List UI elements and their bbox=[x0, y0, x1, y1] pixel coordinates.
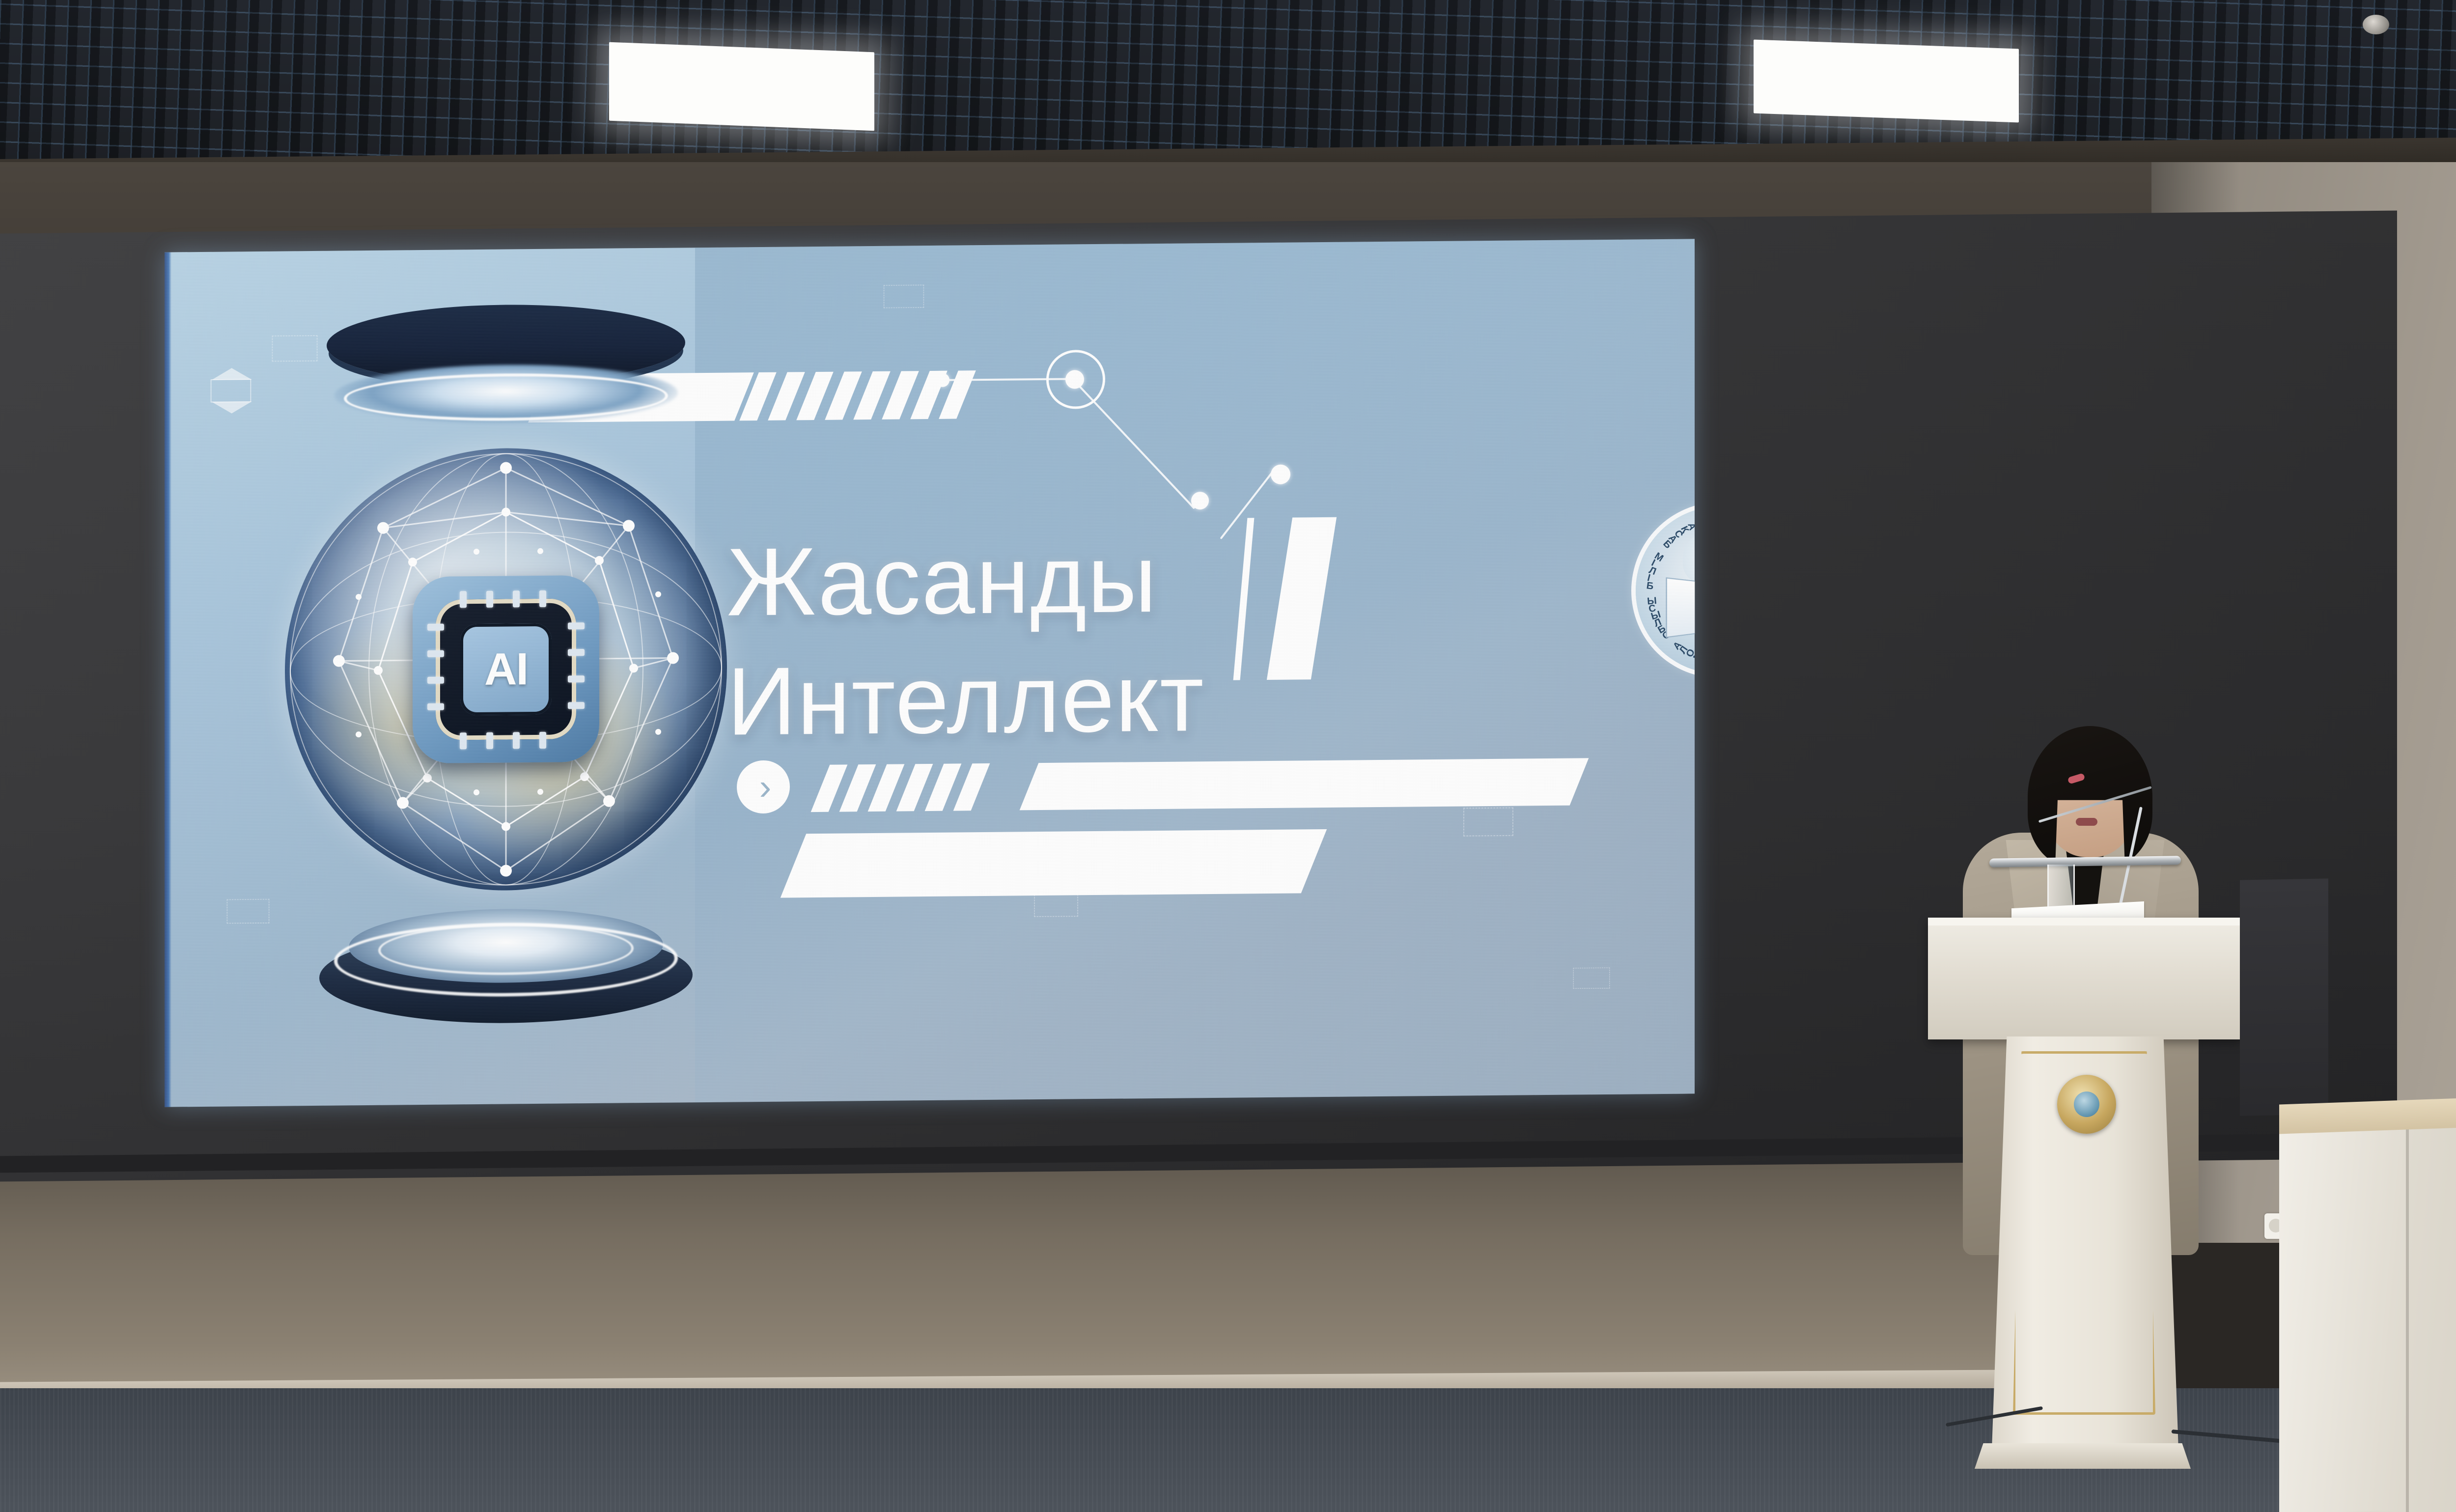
network-node-dot bbox=[1191, 492, 1209, 509]
stripe-bar-bottom-solid bbox=[1020, 758, 1589, 810]
open-book-icon bbox=[1666, 580, 1695, 635]
chip-pin bbox=[427, 677, 444, 684]
hexagon-decor-dashed bbox=[1573, 967, 1610, 989]
chip-pin bbox=[427, 650, 444, 657]
ceiling-light-panel bbox=[1754, 40, 2019, 123]
ai-globe-graphic: AI bbox=[251, 289, 761, 1074]
chip-pin bbox=[427, 624, 444, 631]
chip-pin bbox=[539, 732, 546, 749]
chip-pin bbox=[460, 591, 467, 608]
wireframe-globe-icon: AI bbox=[285, 447, 727, 893]
chip-pin bbox=[568, 649, 585, 656]
hexagon-decor-dashed bbox=[1463, 807, 1513, 836]
chip-pin bbox=[486, 591, 493, 608]
slide-title-line-2: Интеллект bbox=[727, 634, 1660, 761]
chip-pin bbox=[486, 732, 493, 749]
stripe-bar-bottom bbox=[820, 763, 980, 812]
hexagon-decor bbox=[211, 379, 251, 402]
desk-panel-divider bbox=[2406, 1125, 2409, 1512]
chip-pin bbox=[568, 702, 585, 709]
stripe-bar-top bbox=[749, 370, 966, 420]
podium-top-edge bbox=[1928, 918, 2242, 925]
presentation-slide: Жасанды Интеллект АҚМОЛА ОБЛЫСЫ БІЛІМ БА… bbox=[165, 239, 1695, 1107]
slide-title: Жасанды Интеллект bbox=[727, 514, 1660, 761]
state-emblem-icon bbox=[2057, 1075, 2116, 1134]
conference-room-photo: Жасанды Интеллект АҚМОЛА ОБЛЫСЫ БІЛІМ БА… bbox=[0, 0, 2456, 1512]
ai-chip-icon: AI bbox=[413, 575, 599, 763]
podium-lectern-top bbox=[1928, 918, 2242, 1039]
speaker-mouth bbox=[2076, 818, 2097, 826]
foreground-desk-side bbox=[2279, 1114, 2407, 1512]
lower-wall bbox=[0, 1149, 2161, 1395]
ceiling-sensor-dome bbox=[2363, 15, 2389, 34]
slide-title-line-1: Жасанды bbox=[727, 514, 1660, 642]
podium-base bbox=[1975, 1443, 2191, 1469]
network-node-dot bbox=[1065, 370, 1084, 389]
organization-emblem-logo: АҚМОЛА ОБЛЫСЫ БІЛІМ БАСҚАРМАСЫНЫҢ ӘДІСТЕ… bbox=[1636, 505, 1695, 674]
hexagon-decor-dashed bbox=[884, 284, 924, 308]
chip-pin bbox=[427, 703, 444, 710]
chip-pin bbox=[568, 675, 585, 682]
chip-pin bbox=[513, 590, 520, 607]
chip-label: AI bbox=[484, 644, 528, 696]
slide-left-edge bbox=[165, 252, 171, 1107]
chip-substrate: AI bbox=[436, 598, 576, 740]
chip-pin bbox=[513, 732, 520, 749]
chip-core: AI bbox=[460, 623, 552, 716]
network-node-dot bbox=[1271, 465, 1290, 484]
ceiling-grid bbox=[0, 0, 2456, 162]
stripe-bar-bottom-wide bbox=[781, 829, 1327, 898]
ceiling-light-panel bbox=[609, 42, 874, 131]
chip-pin bbox=[539, 590, 546, 607]
wall-monitor-edge bbox=[2240, 878, 2328, 1116]
chip-pin bbox=[568, 622, 585, 629]
chip-pin bbox=[460, 732, 467, 749]
